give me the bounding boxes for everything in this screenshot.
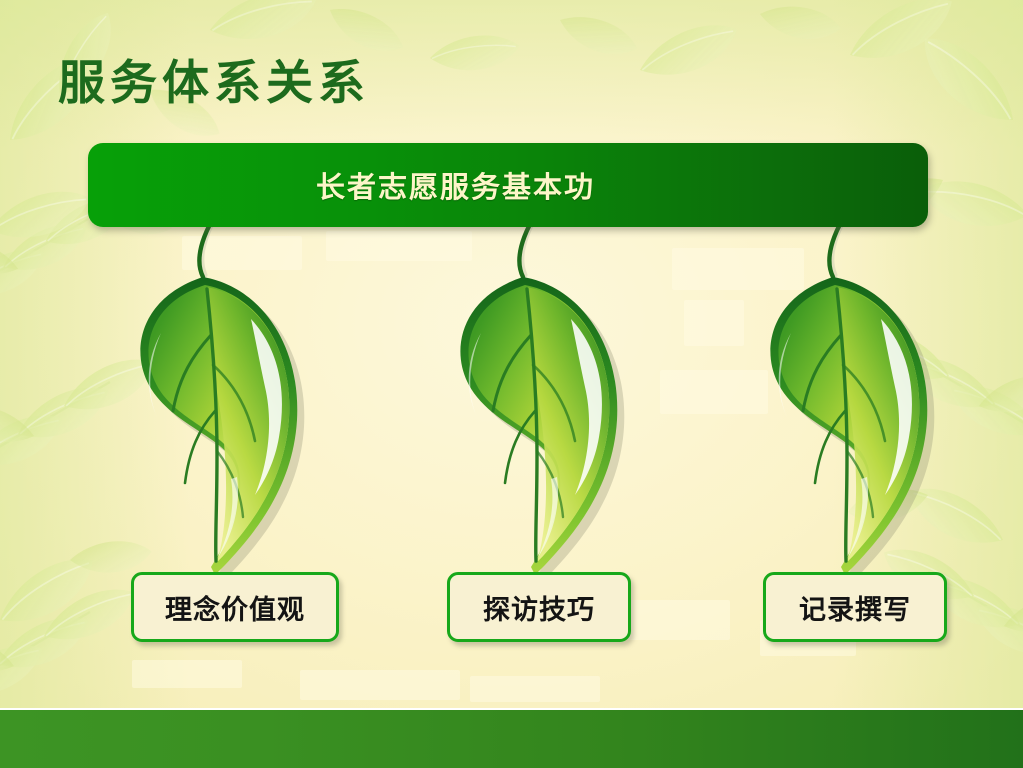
diagram-branch-label-3[interactable]: 记录撰写	[763, 572, 947, 642]
footer-band	[0, 708, 1023, 768]
slide-canvas: 服务体系关系 长者志愿服务基本功	[0, 0, 1023, 768]
branch-label-text: 记录撰写	[799, 588, 911, 627]
diagram-branch-label-2[interactable]: 探访技巧	[447, 572, 631, 642]
diagram-branch-label-1[interactable]: 理念价值观	[131, 572, 339, 642]
diagram-root-banner: 长者志愿服务基本功	[88, 143, 928, 227]
branch-label-text: 探访技巧	[483, 588, 595, 627]
page-title: 服务体系关系	[58, 44, 370, 113]
diagram-root-label: 长者志愿服务基本功	[316, 164, 595, 206]
branch-label-text: 理念价值观	[165, 588, 305, 627]
